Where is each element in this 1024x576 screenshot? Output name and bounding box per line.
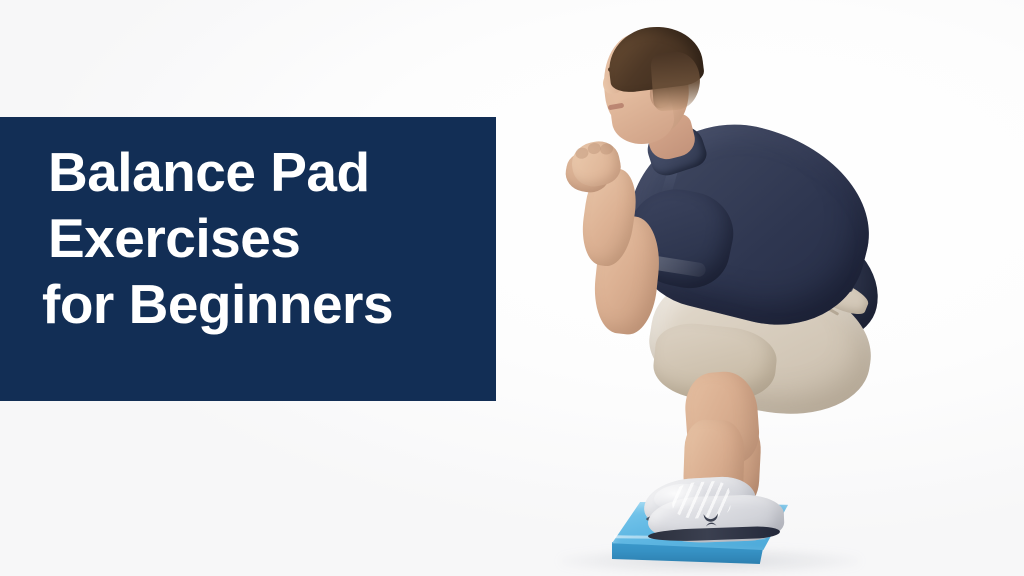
title-line-2: Exercises	[48, 205, 472, 271]
title-line-1: Balance Pad	[48, 139, 472, 205]
title-overlay-card: Balance Pad Exercises for Beginners	[0, 117, 496, 401]
video-thumbnail: Balance Pad Exercises for Beginners	[0, 0, 1024, 576]
under-armour-logo-icon	[700, 511, 723, 528]
title-line-3: for Beginners	[42, 271, 472, 337]
knuckle	[599, 142, 614, 155]
